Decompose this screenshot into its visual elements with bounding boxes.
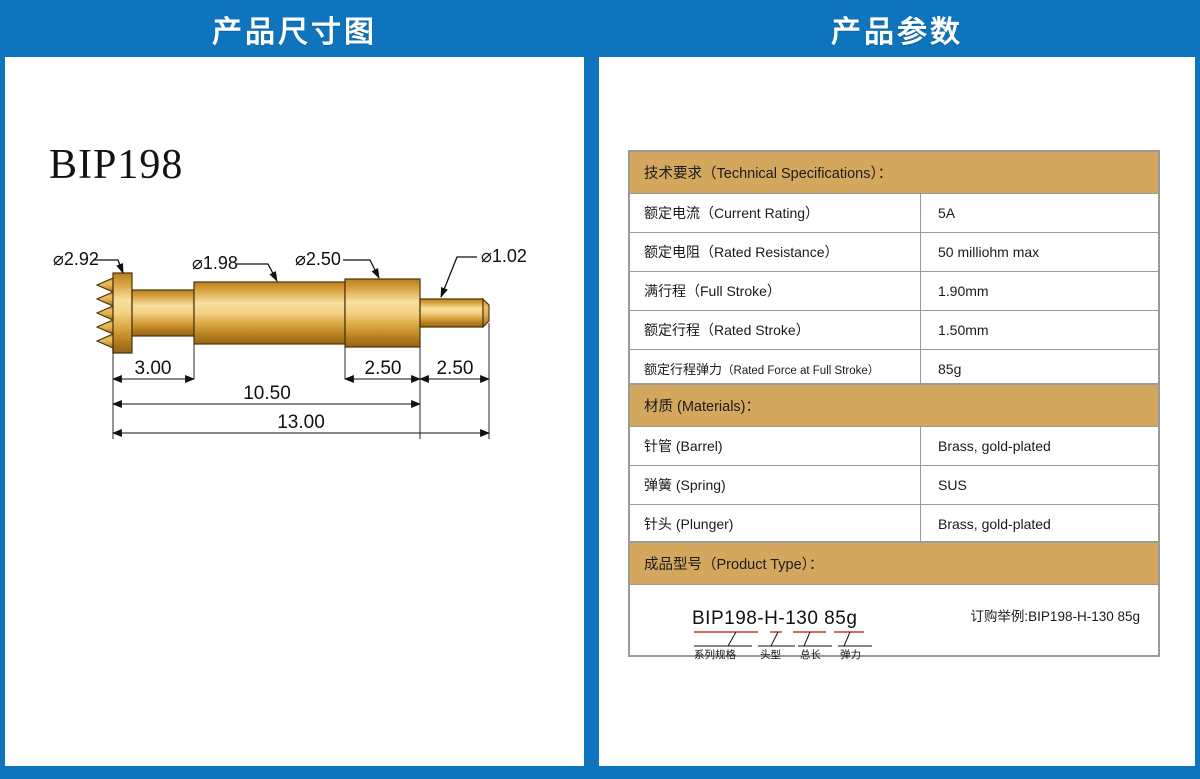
table-row: 额定行程弹力（Rated Force at Full Stroke） 85g <box>630 350 1159 388</box>
spec-key-full-stroke: 满行程（Full Stroke） <box>630 272 921 311</box>
spec-value-rated-force: 85g <box>921 350 1159 388</box>
dim-label-13-00: 13.00 <box>277 412 325 433</box>
spec-table-title: 技术要求（Technical Specifications）： <box>630 152 1159 194</box>
materials-table: 材质 (Materials)： 针管 (Barrel) Brass, gold-… <box>628 383 1160 545</box>
callout-dia-198: ⌀1.98 <box>192 253 238 273</box>
material-value-plunger: Brass, gold-plated <box>921 505 1159 544</box>
dimension-labels: 3.00 2.50 2.50 10.50 13.00 <box>135 358 474 433</box>
spec-value-rated-resistance: 50 milliohm max <box>921 233 1159 272</box>
pogo-pin-technical-drawing: ⌀2.92 ⌀1.98 ⌀2.50 ⌀1.02 3.00 2.50 2.50 1… <box>5 57 584 766</box>
table-row: 针头 (Plunger) Brass, gold-plated <box>630 505 1159 544</box>
dimension-drawing-panel: BIP198 <box>5 57 584 766</box>
order-example: 订购举例:BIP198-H-130 85g <box>970 605 1140 625</box>
spec-key-current-rating: 额定电流（Current Rating） <box>630 194 921 233</box>
flange <box>113 273 132 353</box>
callout-dia-102: ⌀1.02 <box>481 246 527 266</box>
tail-tip <box>483 299 489 327</box>
callout-dia-250: ⌀2.50 <box>295 249 341 269</box>
material-value-barrel: Brass, gold-plated <box>921 427 1159 466</box>
tail-pin <box>420 299 483 327</box>
spec-value-rated-stroke: 1.50mm <box>921 311 1159 350</box>
spec-key-rated-resistance: 额定电阻（Rated Resistance） <box>630 233 921 272</box>
material-key-spring: 弹簧 (Spring) <box>630 466 921 505</box>
crown-teeth <box>97 278 113 348</box>
spec-value-full-stroke: 1.90mm <box>921 272 1159 311</box>
table-row: 额定行程（Rated Stroke） 1.50mm <box>630 311 1159 350</box>
table-row: 针管 (Barrel) Brass, gold-plated <box>630 427 1159 466</box>
part-number-breakdown: BIP198-H-130 85g <box>630 585 1159 656</box>
materials-table-title: 材质 (Materials)： <box>630 385 1159 427</box>
shoulder <box>345 279 420 347</box>
segment-label-series: 系列规格 <box>694 648 736 660</box>
barrel <box>194 282 345 344</box>
table-row: 满行程（Full Stroke） 1.90mm <box>630 272 1159 311</box>
right-panel-title: 产品参数 <box>831 7 963 51</box>
spec-value-current-rating: 5A <box>921 194 1159 233</box>
neck <box>132 290 194 336</box>
material-key-plunger: 针头 (Plunger) <box>630 505 921 544</box>
right-panel-header: 产品参数 <box>594 0 1200 57</box>
table-row: 额定电流（Current Rating） 5A <box>630 194 1159 233</box>
product-type-header-row: 成品型号（Product Type）： <box>630 543 1159 585</box>
parameters-panel: 技术要求（Technical Specifications）： 额定电流（Cur… <box>599 57 1195 766</box>
segment-label-total-length: 总长 <box>800 648 821 660</box>
material-key-barrel: 针管 (Barrel) <box>630 427 921 466</box>
dim-label-10-50: 10.50 <box>243 383 291 404</box>
segment-label-spring-force: 弹力 <box>840 648 861 660</box>
product-type-table: 成品型号（Product Type）： BIP198-H-130 85g <box>628 541 1160 657</box>
left-panel-header: 产品尺寸图 <box>0 0 589 57</box>
segment-label-head-type: 头型 <box>760 648 781 660</box>
table-row: 额定电阻（Rated Resistance） 50 milliohm max <box>630 233 1159 272</box>
pin-geometry <box>97 273 489 353</box>
product-type-title: 成品型号（Product Type）： <box>630 543 1159 585</box>
spec-key-rated-stroke: 额定行程（Rated Stroke） <box>630 311 921 350</box>
dim-label-2-50-b: 2.50 <box>437 358 474 379</box>
dim-label-2-50-a: 2.50 <box>365 358 402 379</box>
material-value-spring: SUS <box>921 466 1159 505</box>
technical-specifications-table: 技术要求（Technical Specifications）： 额定电流（Cur… <box>628 150 1160 389</box>
left-panel-title: 产品尺寸图 <box>212 7 377 51</box>
callout-dia-292: ⌀2.92 <box>53 249 99 269</box>
spec-table-header-row: 技术要求（Technical Specifications）： <box>630 152 1159 194</box>
dim-label-3-00: 3.00 <box>135 358 172 379</box>
table-row: 弹簧 (Spring) SUS <box>630 466 1159 505</box>
part-number-leader-diagram: 系列规格 头型 总长 弹力 <box>692 608 902 660</box>
spec-key-rated-force: 额定行程弹力（Rated Force at Full Stroke） <box>630 350 921 388</box>
materials-table-header-row: 材质 (Materials)： <box>630 385 1159 427</box>
